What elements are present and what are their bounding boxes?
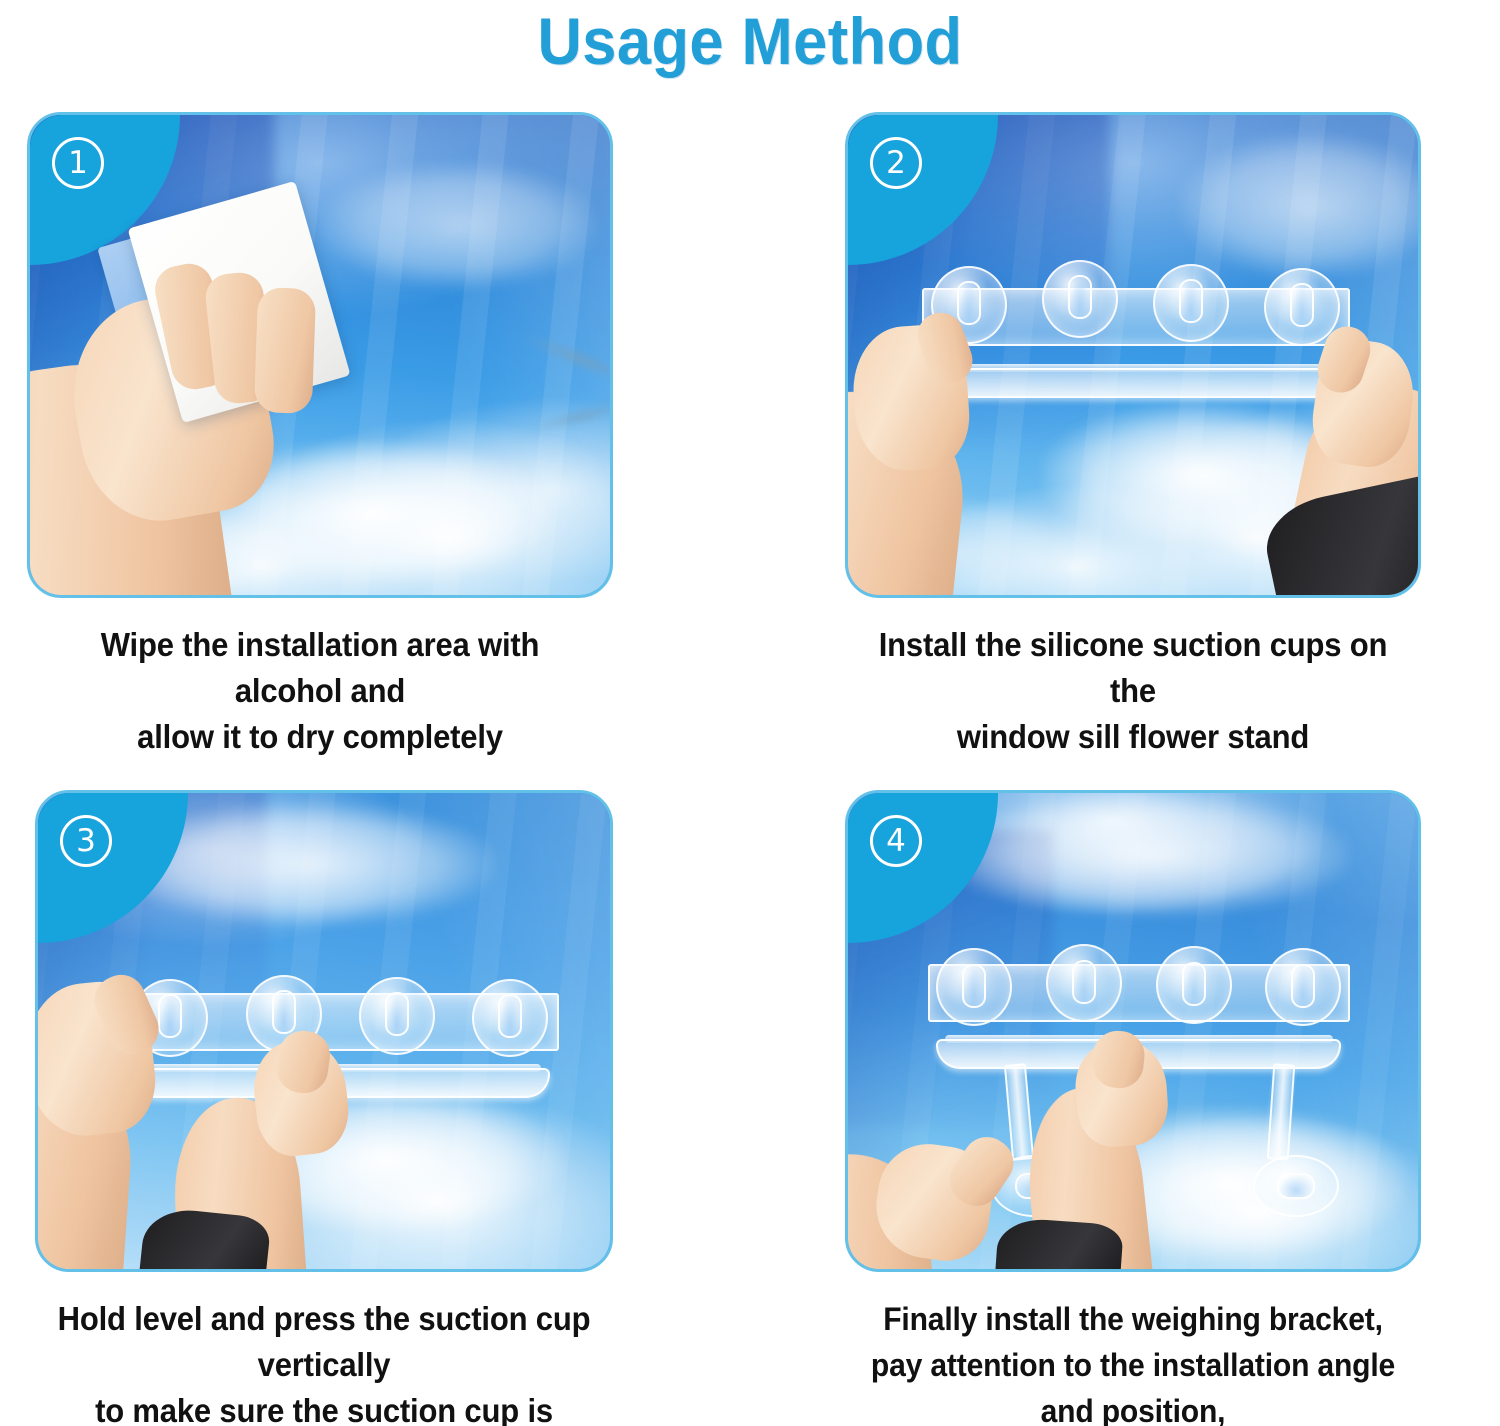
step-card-4: 4 Finally install the weighing bracket, … xyxy=(845,790,1421,1426)
caption-line: to make sure the suction cup is empty xyxy=(52,1388,595,1426)
cloud xyxy=(951,793,1350,917)
step-1-caption: Wipe the installation area with alcohol … xyxy=(45,622,596,760)
step-card-2: 2 Install the silicone suction cups on t… xyxy=(845,112,1421,760)
cloud xyxy=(320,163,598,288)
finger xyxy=(254,287,316,414)
shelf-tray xyxy=(931,368,1341,398)
caption-line: window sill flower stand xyxy=(862,714,1403,760)
suction-cup xyxy=(1156,946,1232,1024)
bracket-suction-cup-right xyxy=(1253,1155,1339,1217)
step-3-caption: Hold level and press the suction cup ver… xyxy=(52,1296,595,1426)
cloud xyxy=(1179,134,1421,278)
step-1-photo: 1 xyxy=(27,112,613,598)
step-number-2: 2 xyxy=(870,137,922,189)
sleeve-right xyxy=(993,1217,1124,1272)
caption-line: allow it to dry completely xyxy=(45,714,596,760)
acrylic-shelf xyxy=(922,288,1350,398)
suction-cup xyxy=(1153,264,1229,342)
suction-cup xyxy=(1042,260,1118,338)
step-3-photo: 3 xyxy=(35,790,613,1272)
step-number-3: 3 xyxy=(60,815,112,867)
suction-cup xyxy=(472,979,548,1057)
suction-cup xyxy=(359,977,435,1055)
step-2-photo: 2 xyxy=(845,112,1421,598)
caption-line: Wipe the installation area with alcohol … xyxy=(45,622,596,714)
usage-method-page: Usage Method xyxy=(0,0,1500,1426)
step-2-caption: Install the silicone suction cups on the… xyxy=(862,622,1403,760)
caption-line: Hold level and press the suction cup ver… xyxy=(52,1296,595,1388)
suction-cup xyxy=(1046,944,1122,1022)
step-number-1: 1 xyxy=(52,137,104,189)
caption-line: Install the silicone suction cups on the xyxy=(862,622,1403,714)
caption-line: pay attention to the installation angle … xyxy=(862,1342,1403,1426)
step-card-1: 1 Wipe the installation area with alcoho… xyxy=(27,112,613,760)
step-4-photo: 4 xyxy=(845,790,1421,1272)
step-number-4: 4 xyxy=(870,815,922,867)
steps-grid: 1 Wipe the installation area with alcoho… xyxy=(0,0,1500,1426)
step-card-3: 3 Hold level and press the suction cup v… xyxy=(35,790,613,1426)
step-4-caption: Finally install the weighing bracket, pa… xyxy=(862,1296,1403,1426)
caption-line: Finally install the weighing bracket, xyxy=(862,1296,1403,1342)
